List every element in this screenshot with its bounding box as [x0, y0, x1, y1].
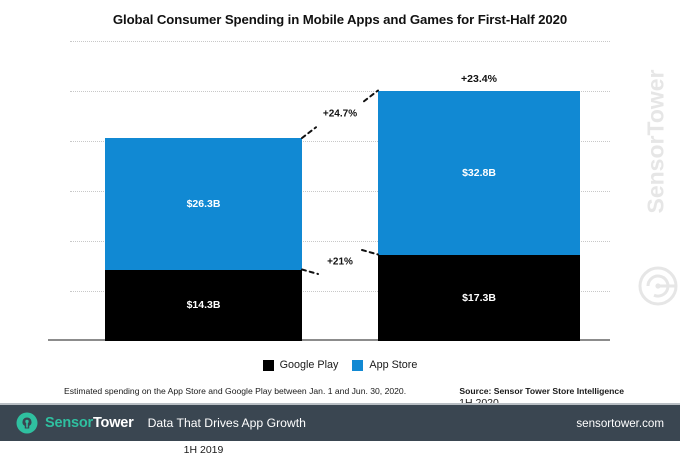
- footer-wordmark: SensorTower: [45, 415, 134, 431]
- page-title: Global Consumer Spending in Mobile Apps …: [0, 12, 680, 27]
- footnote-row: Estimated spending on the App Store and …: [64, 386, 624, 396]
- bar-segment-google-play[interactable]: $14.3B: [105, 270, 302, 342]
- legend-label-app-store: App Store: [369, 359, 417, 371]
- infographic-chart: Global Consumer Spending in Mobile Apps …: [0, 0, 680, 441]
- footer-url[interactable]: sensortower.com: [576, 417, 664, 430]
- bar-1h-2019[interactable]: $26.3B$14.3B1H 2019: [105, 138, 302, 341]
- legend-item-app-store[interactable]: App Store: [352, 359, 417, 371]
- watermark-text: SensorTower: [643, 62, 670, 222]
- bar-segment-app-store[interactable]: $26.3B: [105, 138, 302, 270]
- legend-label-google-play: Google Play: [280, 359, 339, 371]
- watermark: SensorTower: [634, 58, 674, 308]
- bar-value-label-google-play: $17.3B: [378, 292, 580, 304]
- footer-tagline: Data That Drives App Growth: [148, 416, 306, 430]
- bar-1h-2020[interactable]: $32.8B$17.3B+23.4%1H 2020: [378, 91, 580, 342]
- legend-item-google-play[interactable]: Google Play: [263, 359, 339, 371]
- growth-label-app-store: +24.7%: [320, 109, 360, 120]
- legend-swatch-google-play-icon: [263, 360, 274, 371]
- chart-legend: Google Play App Store: [0, 359, 680, 371]
- bar-total-growth-label: +23.4%: [378, 73, 580, 85]
- bar-value-label-google-play: $14.3B: [105, 299, 302, 311]
- footnote-source: Source: Sensor Tower Store Intelligence: [459, 386, 624, 396]
- sensortower-logo-watermark-icon: [636, 264, 680, 308]
- growth-label-google-play: +21%: [324, 257, 356, 268]
- footer-bar: SensorTower Data That Drives App Growth …: [0, 405, 680, 441]
- footnote-note: Estimated spending on the App Store and …: [64, 386, 406, 396]
- bar-value-label-app-store: $26.3B: [105, 198, 302, 210]
- gridline: [70, 41, 610, 42]
- footer-brand-sensor: Sensor: [45, 415, 93, 431]
- legend-swatch-app-store-icon: [352, 360, 363, 371]
- bar-segment-app-store[interactable]: $32.8B: [378, 91, 580, 255]
- footer-brand-tower: Tower: [93, 415, 134, 431]
- bar-segment-google-play[interactable]: $17.3B: [378, 255, 580, 342]
- footer-brand[interactable]: SensorTower: [16, 412, 134, 434]
- sensortower-logo-icon: [16, 412, 38, 434]
- plot-area: $0$10B$20B$30B$40B$50B$60B $26.3B$14.3B1…: [70, 41, 610, 341]
- bar-value-label-app-store: $32.8B: [378, 167, 580, 179]
